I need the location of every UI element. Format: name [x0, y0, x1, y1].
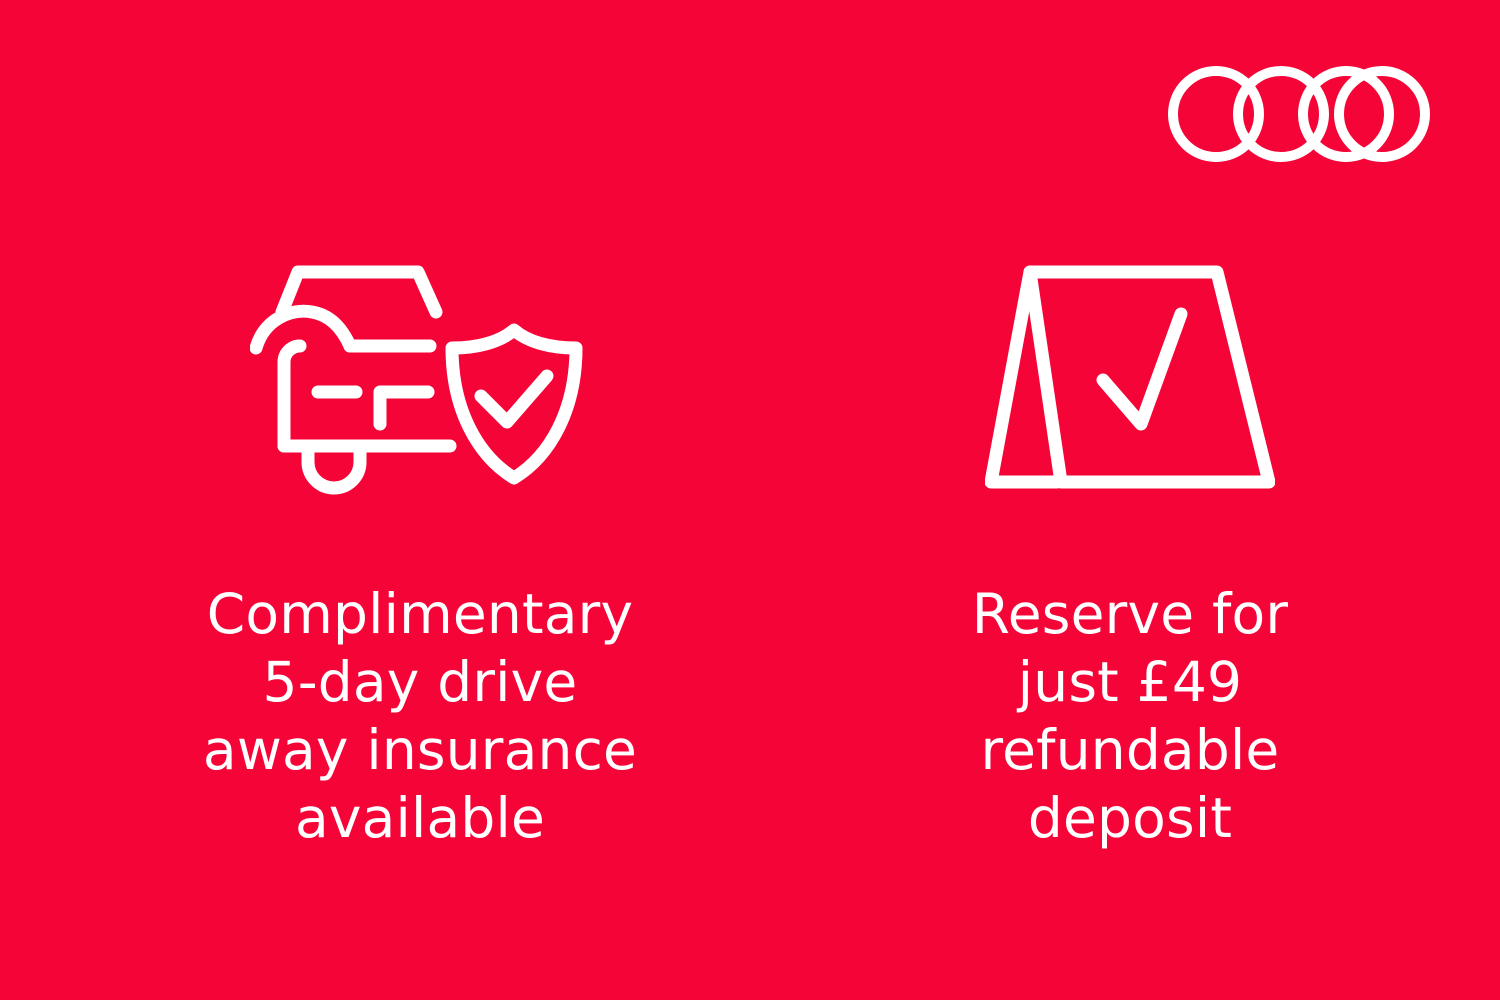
feature-deposit-text: Reserve for just £49 refundable deposit: [972, 580, 1288, 852]
tent-card-check-icon: [985, 250, 1275, 500]
car-shield-icon: [250, 250, 590, 500]
feature-insurance-text: Complimentary 5-day drive away insurance…: [203, 580, 637, 852]
feature-insurance: Complimentary 5-day drive away insurance…: [110, 250, 730, 852]
audi-four-rings-icon: [1168, 66, 1430, 162]
promo-banner: Complimentary 5-day drive away insurance…: [0, 0, 1500, 1000]
feature-deposit: Reserve for just £49 refundable deposit: [860, 250, 1400, 852]
